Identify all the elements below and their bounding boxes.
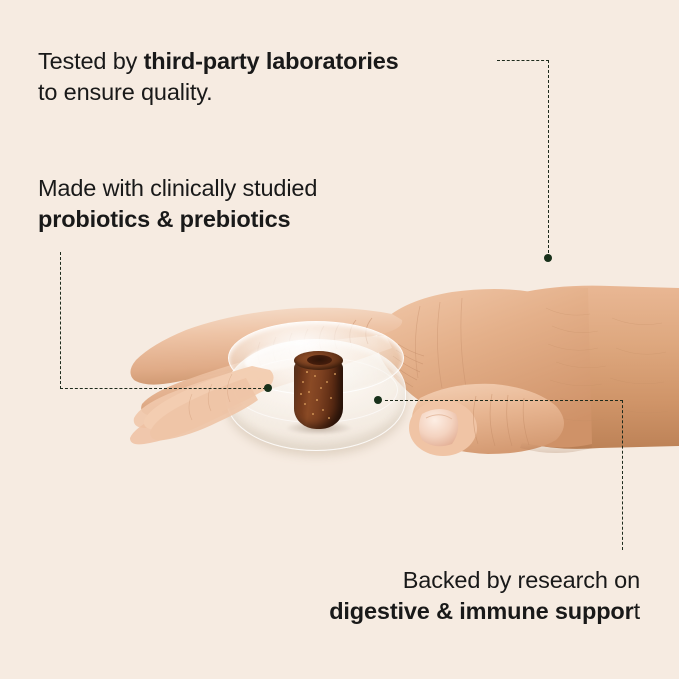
connector-made-horizontal — [60, 388, 266, 389]
callout-tested-by-third-party-laboratories: Tested by third-party laboratories to en… — [38, 46, 399, 108]
connector-made-endpoint-dot — [264, 384, 272, 392]
connector-backed-endpoint-dot — [374, 396, 382, 404]
connector-tested-horizontal — [497, 60, 549, 61]
chew-top-face — [294, 351, 343, 370]
supplement-chew — [294, 351, 343, 429]
callout-backed-line-1: Backed by research on — [40, 565, 640, 596]
callout-made-with-clinically-studied-probiotics: Made with clinically studied probiotics … — [38, 173, 317, 235]
connector-tested-endpoint-dot — [544, 254, 552, 262]
product-photo — [0, 248, 679, 548]
connector-backed-horizontal — [385, 400, 623, 401]
connector-made-vertical — [60, 252, 61, 389]
connector-backed-vertical — [622, 400, 623, 550]
callout-backed-line-2: digestive & immune support — [40, 596, 640, 627]
chew-center-hole — [307, 355, 332, 365]
callout-tested-line-2: to ensure quality. — [38, 77, 399, 108]
callout-made-line-2: probiotics & prebiotics — [38, 204, 317, 235]
callout-backed-by-research-digestive-immune-support: Backed by research on digestive & immune… — [40, 565, 640, 627]
connector-tested-vertical — [548, 60, 549, 258]
callout-tested-line-1: Tested by third-party laboratories — [38, 46, 399, 77]
infographic-canvas: Tested by third-party laboratories to en… — [0, 0, 679, 679]
callout-made-line-1: Made with clinically studied — [38, 173, 317, 204]
